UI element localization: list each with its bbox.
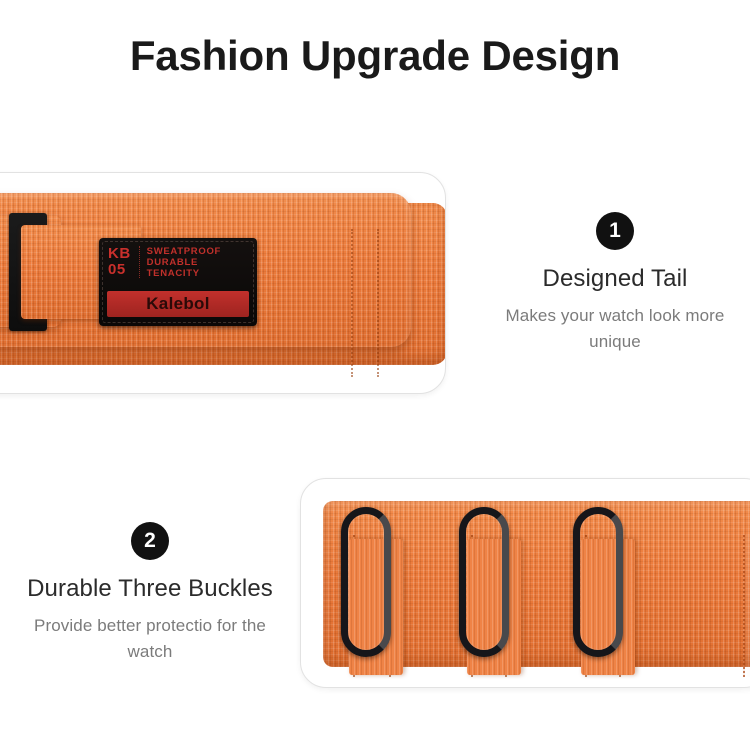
brand-label-claim-3: TENACITY — [147, 268, 221, 279]
buckle-loop-3 — [573, 507, 623, 657]
feature-title-2: Durable Three Buckles — [10, 574, 290, 604]
brand-label-code-line2: 05 — [108, 262, 131, 278]
brand-label-top-row: KB 05 SWEATPROOF DURABLE TENACITY — [108, 246, 248, 279]
strap-edge-stitching — [743, 535, 750, 677]
brand-label-claims: SWEATPROOF DURABLE TENACITY — [140, 246, 221, 279]
feature-title-1: Designed Tail — [480, 264, 750, 294]
brand-label-code: KB 05 — [108, 246, 140, 278]
feature-description-2: Provide better protectio for the watch — [10, 613, 290, 665]
feature-number-badge-2: 2 — [131, 522, 169, 560]
brand-label-claim-1: SWEATPROOF — [147, 246, 221, 257]
watch-strap-tail-photo: KB 05 SWEATPROOF DURABLE TENACITY Kalebo… — [0, 172, 446, 394]
brand-name: Kalebol — [146, 294, 210, 314]
brand-label-code-line1: KB — [108, 246, 131, 262]
strap-seam-right — [351, 229, 353, 377]
feature-block-1: 1 Designed Tail Makes your watch look mo… — [480, 212, 750, 355]
photo-inner-bottom — [301, 479, 750, 687]
feature-number-badge-1: 1 — [596, 212, 634, 250]
strap-seam-right-2 — [377, 229, 379, 377]
page-title: Fashion Upgrade Design — [0, 30, 750, 82]
infographic-page: Fashion Upgrade Design KB 05 — [0, 0, 750, 750]
feature-block-2: 2 Durable Three Buckles Provide better p… — [10, 522, 290, 665]
buckle-loop-2 — [459, 507, 509, 657]
photo-inner-top: KB 05 SWEATPROOF DURABLE TENACITY Kalebo… — [0, 173, 445, 393]
brand-label-claim-2: DURABLE — [147, 257, 221, 268]
feature-description-1: Makes your watch look more unique — [480, 303, 750, 355]
brand-label-patch: KB 05 SWEATPROOF DURABLE TENACITY Kalebo… — [99, 238, 257, 326]
brand-label-brand-bar: Kalebol — [107, 291, 249, 317]
buckle-loop-1 — [341, 507, 391, 657]
watch-strap-buckles-photo — [300, 478, 750, 688]
